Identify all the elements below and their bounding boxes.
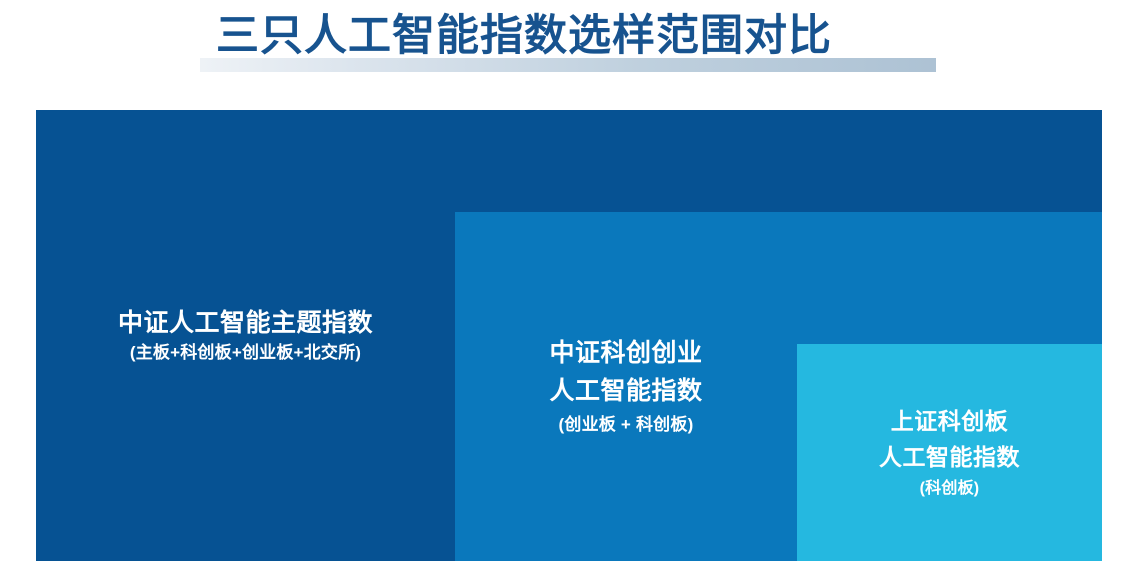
scope-box-broadest-scope: (主板+科创板+创业板+北交所): [44, 340, 447, 366]
scope-box-broadest-name: 中证人工智能主题指数: [44, 306, 447, 340]
page-title: 三只人工智能指数选样范围对比: [216, 6, 916, 66]
scope-box-narrowest: 上证科创板 人工智能指数 (科创板): [797, 344, 1102, 561]
index-scope-diagram: 中证人工智能主题指数 (主板+科创板+创业板+北交所) 中证科创创业 人工智能指…: [36, 110, 1102, 561]
scope-box-middle-name-line1: 中证科创创业: [463, 334, 789, 372]
scope-box-middle-labels: 中证科创创业 人工智能指数 (创业板 + 科创板): [455, 334, 797, 440]
scope-box-narrowest-scope: (科创板): [805, 475, 1094, 503]
scope-box-broadest-labels: 中证人工智能主题指数 (主板+科创板+创业板+北交所): [36, 306, 455, 366]
scope-box-narrowest-labels: 上证科创板 人工智能指数 (科创板): [797, 403, 1102, 503]
scope-box-narrowest-name-line2: 人工智能指数: [805, 439, 1094, 475]
title-block: 三只人工智能指数选样范围对比: [0, 0, 1146, 96]
scope-box-narrowest-name-line1: 上证科创板: [805, 403, 1094, 439]
scope-box-middle-scope: (创业板 + 科创板): [463, 410, 789, 440]
scope-box-middle-name-line2: 人工智能指数: [463, 372, 789, 410]
